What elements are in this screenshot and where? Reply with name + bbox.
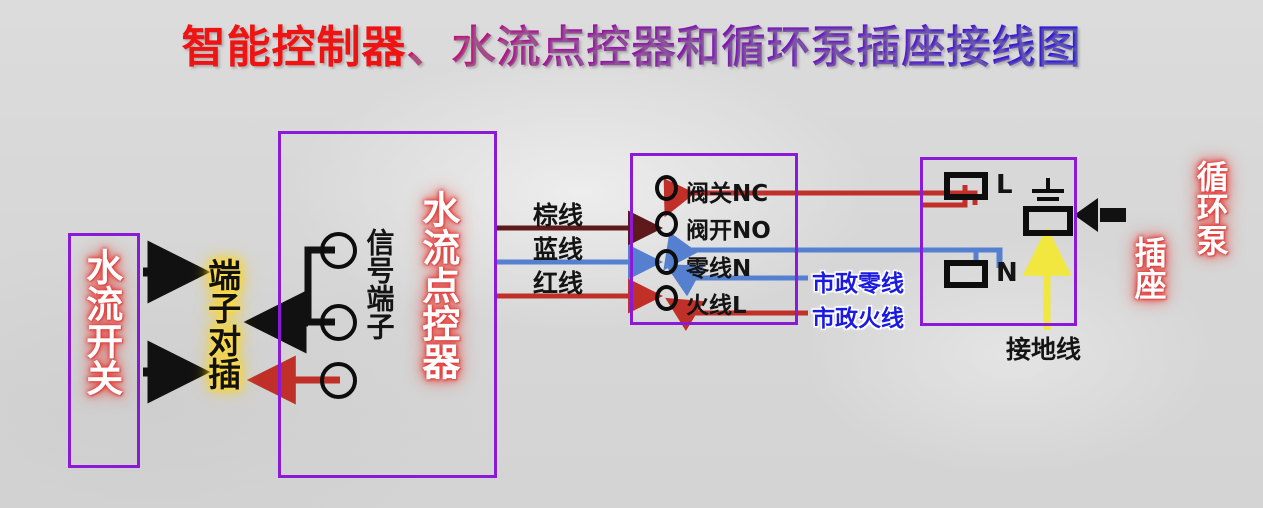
- socket-live-slot[interactable]: [944, 172, 988, 200]
- blue-wire-label: 蓝线: [533, 230, 583, 266]
- mains-neutral-label: 市政零线: [812, 264, 904, 298]
- terminal-valve-closed-nc[interactable]: [655, 175, 678, 201]
- brown-wire-label: 棕线: [533, 196, 583, 232]
- wiring-diagram-canvas: 智能控制器、水流点控器和循环泵插座接线图: [0, 0, 1263, 508]
- signal-terminal-1[interactable]: [320, 232, 357, 269]
- terminal-label-valve-closed-nc: 阀关NC: [686, 174, 768, 208]
- terminal-valve-open-no[interactable]: [655, 211, 678, 237]
- terminal-label-live-l: 火线L: [686, 286, 747, 320]
- flow-switch-label: 水流开关: [82, 248, 120, 396]
- socket-earth-symbol: [1020, 178, 1076, 242]
- socket-side-label: 插座: [1132, 236, 1165, 300]
- signal-terminal-label: 信号端子: [364, 228, 393, 340]
- pump-direction-arrow: [1074, 198, 1126, 232]
- page-title-red-part: 智能控制器: [182, 22, 407, 73]
- signal-terminal-3[interactable]: [320, 362, 357, 399]
- socket-live-label: L: [996, 170, 1013, 200]
- socket-neutral-slot[interactable]: [944, 260, 988, 288]
- flowswitch-to-connector-wires: [143, 272, 196, 372]
- red-wire-label: 红线: [533, 264, 583, 300]
- connector-label: 端子对插: [205, 258, 239, 390]
- page-title-gradient-part: 、水流点控器和循环泵插座接线图: [407, 22, 1082, 73]
- terminal-label-neutral-n: 零线N: [686, 249, 751, 283]
- terminal-label-valve-open-no: 阀开NO: [686, 211, 771, 245]
- terminal-neutral-n[interactable]: [655, 249, 678, 275]
- mains-live-label: 市政火线: [812, 299, 904, 333]
- terminal-live-l[interactable]: [655, 285, 678, 311]
- controller-device-label: 水流点控器: [418, 190, 457, 380]
- socket-neutral-label: N: [996, 258, 1018, 288]
- circulation-pump-label: 循环泵: [1194, 160, 1227, 256]
- ground-wire-label: 接地线: [1006, 330, 1081, 366]
- page-title: 智能控制器、水流点控器和循环泵插座接线图: [0, 22, 1263, 74]
- signal-terminal-2[interactable]: [320, 304, 357, 341]
